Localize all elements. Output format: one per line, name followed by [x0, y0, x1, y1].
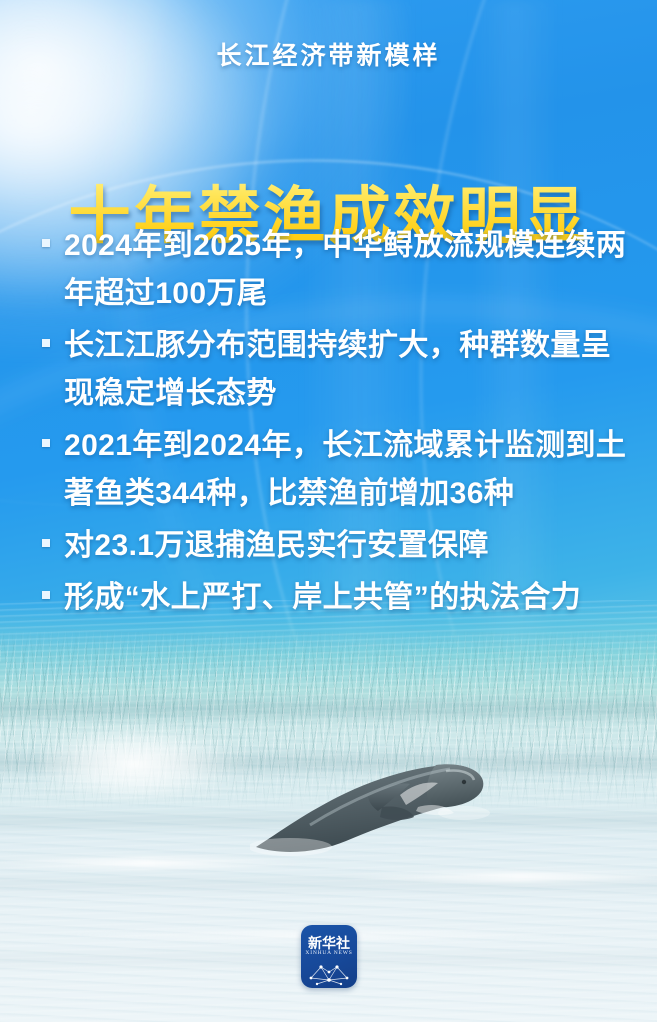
list-item-text: 对23.1万退捕渔民实行安置保障 [64, 522, 489, 570]
list-item: 2024年到2025年，中华鲟放流规模连续两年超过100万尾 [40, 222, 629, 318]
list-item: 形成“水上严打、岸上共管”的执法合力 [40, 574, 629, 622]
list-item-text: 2024年到2025年，中华鲟放流规模连续两年超过100万尾 [64, 222, 629, 318]
poster: 长江经济带新模样 十年禁渔成效明显 2024年到2025年，中华鲟放流规模连续两… [0, 0, 657, 1022]
finless-porpoise-illustration [250, 755, 500, 860]
water-splash [40, 720, 250, 800]
bullet-square-icon [42, 439, 50, 447]
list-item-text: 长江江豚分布范围持续扩大，种群数量呈现稳定增长态势 [64, 322, 629, 418]
bullet-square-icon [42, 339, 50, 347]
bullet-square-icon [42, 539, 50, 547]
list-item-text: 2021年到2024年，长江流域累计监测到土著鱼类344种，比禁渔前增加36种 [64, 422, 629, 518]
list-item: 长江江豚分布范围持续扩大，种群数量呈现稳定增长态势 [40, 322, 629, 418]
network-constellation-icon [301, 958, 357, 988]
bullet-square-icon [42, 591, 50, 599]
logo-english-name: XINHUA NEWS [301, 950, 357, 956]
bullet-square-icon [42, 239, 50, 247]
list-item: 对23.1万退捕渔民实行安置保障 [40, 522, 629, 570]
list-item: 2021年到2024年，长江流域累计监测到土著鱼类344种，比禁渔前增加36种 [40, 422, 629, 518]
kicker-title: 长江经济带新模样 [0, 36, 657, 72]
bullet-list: 2024年到2025年，中华鲟放流规模连续两年超过100万尾 长江江豚分布范围持… [40, 222, 629, 626]
list-item-text: 形成“水上严打、岸上共管”的执法合力 [64, 574, 581, 622]
water-dark-band-1 [0, 696, 657, 722]
xinhua-news-logo: 新华社 XINHUA NEWS [301, 925, 357, 988]
